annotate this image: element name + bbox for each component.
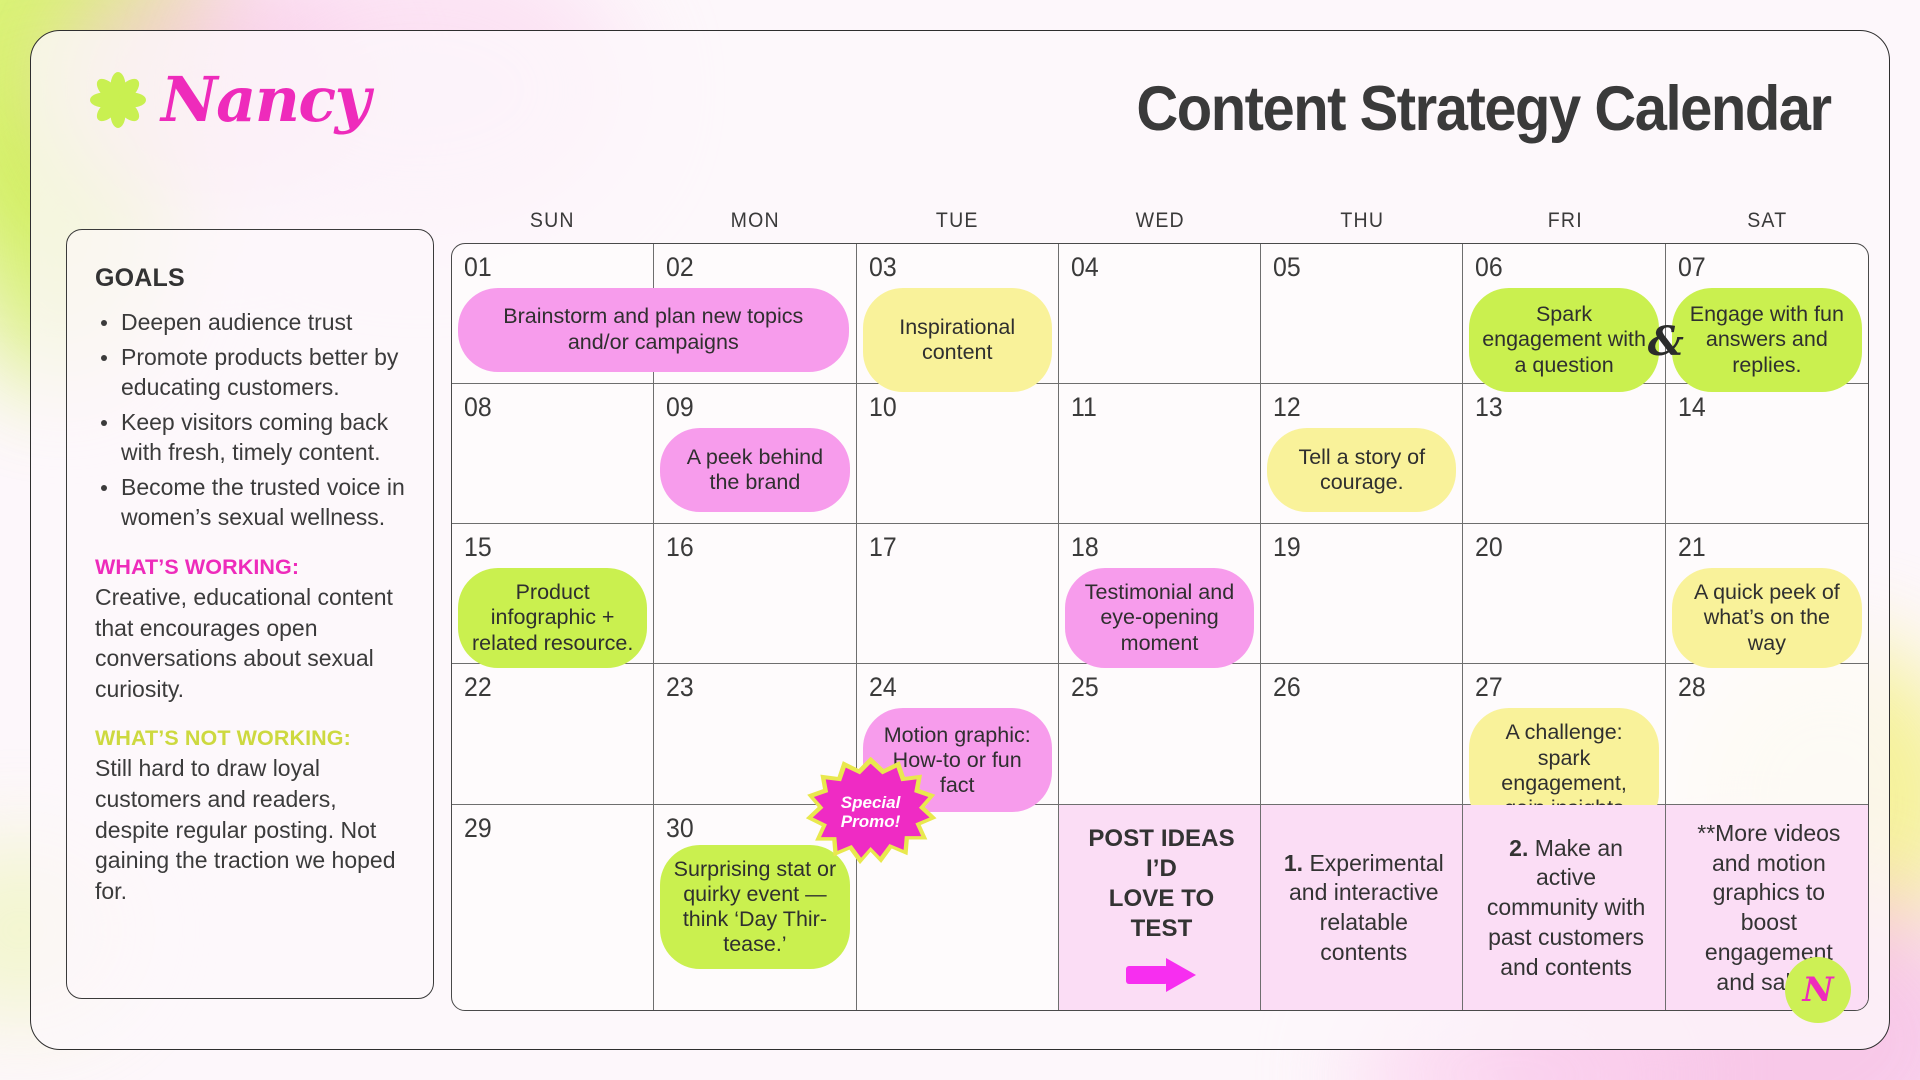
calendar-cell[interactable]: 20 <box>1463 524 1665 664</box>
event-pill-span[interactable]: Brainstorm and plan new topics and/or ca… <box>458 288 849 372</box>
day-number: 04 <box>1071 254 1099 281</box>
day-number: 09 <box>666 394 694 421</box>
calendar-cell[interactable]: 11 <box>1059 384 1261 524</box>
calendar-cell[interactable]: 13 <box>1463 384 1665 524</box>
event-pill[interactable]: Product infographic + related resource. <box>458 568 647 667</box>
event-pill[interactable]: A quick peek of what’s on the way <box>1672 568 1862 667</box>
flower-icon <box>89 71 147 129</box>
post-idea-1-number: 1. <box>1284 850 1310 876</box>
day-number: 16 <box>666 534 694 561</box>
day-number: 12 <box>1273 394 1301 421</box>
calendar-cell[interactable]: 1. Experimental and interactive relatabl… <box>1261 805 1463 1010</box>
page-card: Nancy Content Strategy Calendar GOALS De… <box>30 30 1890 1050</box>
day-number: 17 <box>869 534 897 561</box>
calendar-cell[interactable]: 25 <box>1059 664 1261 804</box>
calendar-cell[interactable]: 27A challenge: spark engagement, gain in… <box>1463 664 1665 804</box>
day-number: 27 <box>1475 674 1503 701</box>
goal-item: Promote products better by educating cus… <box>95 342 405 403</box>
promo-line-2: Promo! <box>841 813 901 831</box>
promo-line-1: Special <box>841 794 901 812</box>
day-number: 01 <box>464 254 492 281</box>
event-pill[interactable]: Spark engagement with a question <box>1469 288 1658 392</box>
calendar-cell[interactable]: 15Product infographic + related resource… <box>452 524 654 664</box>
calendar-cell[interactable]: 18Testimonial and eye-opening moment <box>1059 524 1261 664</box>
calendar-grid: 01Brainstorm and plan new topics and/or … <box>451 243 1869 1011</box>
day-of-week-header: SUN MON TUE WED THU FRI SAT <box>451 209 1869 233</box>
day-number: 21 <box>1678 534 1706 561</box>
calendar-cell[interactable]: 06Spark engagement with a question <box>1463 244 1665 384</box>
post-idea-text: 2. Make an active community with past cu… <box>1481 834 1650 983</box>
event-pill[interactable]: Inspirational content <box>863 288 1052 392</box>
event-pill[interactable]: Testimonial and eye-opening moment <box>1065 568 1254 667</box>
dow-mon: MON <box>661 209 849 233</box>
goal-item: Deepen audience trust <box>95 307 405 338</box>
post-ideas-heading-cell: POST IDEAS I’DLOVE TO TEST <box>1071 815 1252 1002</box>
event-pill[interactable]: Surprising stat or quirky event — think … <box>660 845 849 970</box>
brand-name: Nancy <box>161 69 369 131</box>
day-number: 24 <box>869 674 897 701</box>
dow-sun: SUN <box>458 209 646 233</box>
day-number: 25 <box>1071 674 1099 701</box>
day-number: 03 <box>869 254 897 281</box>
dow-fri: FRI <box>1471 209 1659 233</box>
calendar-cell[interactable]: SpecialPromo! <box>857 805 1059 1010</box>
calendar-cell[interactable]: POST IDEAS I’DLOVE TO TEST <box>1059 805 1261 1010</box>
post-idea-cell: 2. Make an active community with past cu… <box>1475 815 1656 1002</box>
calendar-cell[interactable]: 12Tell a story of courage. <box>1261 384 1463 524</box>
day-number: 10 <box>869 394 897 421</box>
day-number: 11 <box>1071 394 1097 421</box>
dow-tue: TUE <box>863 209 1051 233</box>
post-ideas-heading-line2: LOVE TO TEST <box>1077 884 1246 944</box>
day-number: 23 <box>666 674 694 701</box>
day-number: 20 <box>1475 534 1503 561</box>
whats-not-working-text: Still hard to draw loyal customers and r… <box>95 753 405 906</box>
calendar-cell[interactable]: 08 <box>452 384 654 524</box>
calendar-cell[interactable]: 28 <box>1666 664 1868 804</box>
post-idea-2-number: 2. <box>1509 835 1535 861</box>
calendar: SUN MON TUE WED THU FRI SAT 01Brainstorm… <box>451 209 1869 1011</box>
day-number: 28 <box>1678 674 1706 701</box>
dow-thu: THU <box>1268 209 1456 233</box>
day-number: 13 <box>1475 394 1503 421</box>
post-ideas-heading-line1: POST IDEAS I’D <box>1077 824 1246 884</box>
day-number: 06 <box>1475 254 1503 281</box>
calendar-cell[interactable]: 09A peek behind the brand <box>654 384 856 524</box>
ampersand-connector: & <box>1648 318 1684 365</box>
goal-item: Become the trusted voice in women’s sexu… <box>95 472 405 533</box>
page-title: Content Strategy Calendar <box>1137 73 1831 145</box>
dow-sat: SAT <box>1674 209 1862 233</box>
day-number: 18 <box>1071 534 1099 561</box>
calendar-cell[interactable]: 10 <box>857 384 1059 524</box>
day-number: 26 <box>1273 674 1301 701</box>
event-pill[interactable]: A peek behind the brand <box>660 428 849 512</box>
calendar-cell[interactable]: 21A quick peek of what’s on the way <box>1666 524 1868 664</box>
arrow-right-icon <box>1126 958 1196 992</box>
day-number: 05 <box>1273 254 1301 281</box>
dow-wed: WED <box>1066 209 1254 233</box>
day-number: 08 <box>464 394 492 421</box>
post-idea-cell: 1. Experimental and interactive relatabl… <box>1273 815 1454 1002</box>
post-idea-text: 1. Experimental and interactive relatabl… <box>1279 849 1448 969</box>
day-number: 19 <box>1273 534 1301 561</box>
goal-item: Keep visitors coming back with fresh, ti… <box>95 407 405 468</box>
calendar-cell[interactable]: 04 <box>1059 244 1261 384</box>
calendar-cell[interactable]: 07Engage with fun answers and replies.& <box>1666 244 1868 384</box>
calendar-cell[interactable]: 17 <box>857 524 1059 664</box>
calendar-cell[interactable]: 22 <box>452 664 654 804</box>
whats-working-heading: WHAT’S WORKING: <box>95 555 405 580</box>
calendar-cell[interactable]: 16 <box>654 524 856 664</box>
goals-panel: GOALS Deepen audience trust Promote prod… <box>66 229 434 999</box>
day-number: 07 <box>1678 254 1706 281</box>
calendar-cell[interactable]: 01Brainstorm and plan new topics and/or … <box>452 244 654 384</box>
calendar-cell[interactable]: 19 <box>1261 524 1463 664</box>
day-number: 22 <box>464 674 492 701</box>
event-pill[interactable]: Engage with fun answers and replies. <box>1672 288 1862 392</box>
goals-list: Deepen audience trust Promote products b… <box>95 307 405 533</box>
goals-heading: GOALS <box>95 264 405 293</box>
calendar-cell[interactable]: 26 <box>1261 664 1463 804</box>
day-number: 29 <box>464 815 492 842</box>
calendar-cell[interactable]: 2. Make an active community with past cu… <box>1463 805 1665 1010</box>
day-number: 15 <box>464 534 492 561</box>
nancy-logo-badge: N <box>1785 957 1851 1023</box>
day-number: 02 <box>666 254 694 281</box>
post-idea-1-text: Experimental and interactive relatable c… <box>1289 850 1444 966</box>
whats-not-working-heading: WHAT’S NOT WORKING: <box>95 726 405 751</box>
day-number: 30 <box>666 815 694 842</box>
calendar-cell[interactable]: 03Inspirational content <box>857 244 1059 384</box>
event-pill[interactable]: Tell a story of courage. <box>1267 428 1456 512</box>
whats-working-text: Creative, educational content that encou… <box>95 582 405 704</box>
brand-lockup: Nancy <box>89 69 369 131</box>
calendar-cell[interactable]: 14 <box>1666 384 1868 524</box>
calendar-cell[interactable]: 29 <box>452 805 654 1010</box>
calendar-cell[interactable]: 05 <box>1261 244 1463 384</box>
day-number: 14 <box>1678 394 1706 421</box>
